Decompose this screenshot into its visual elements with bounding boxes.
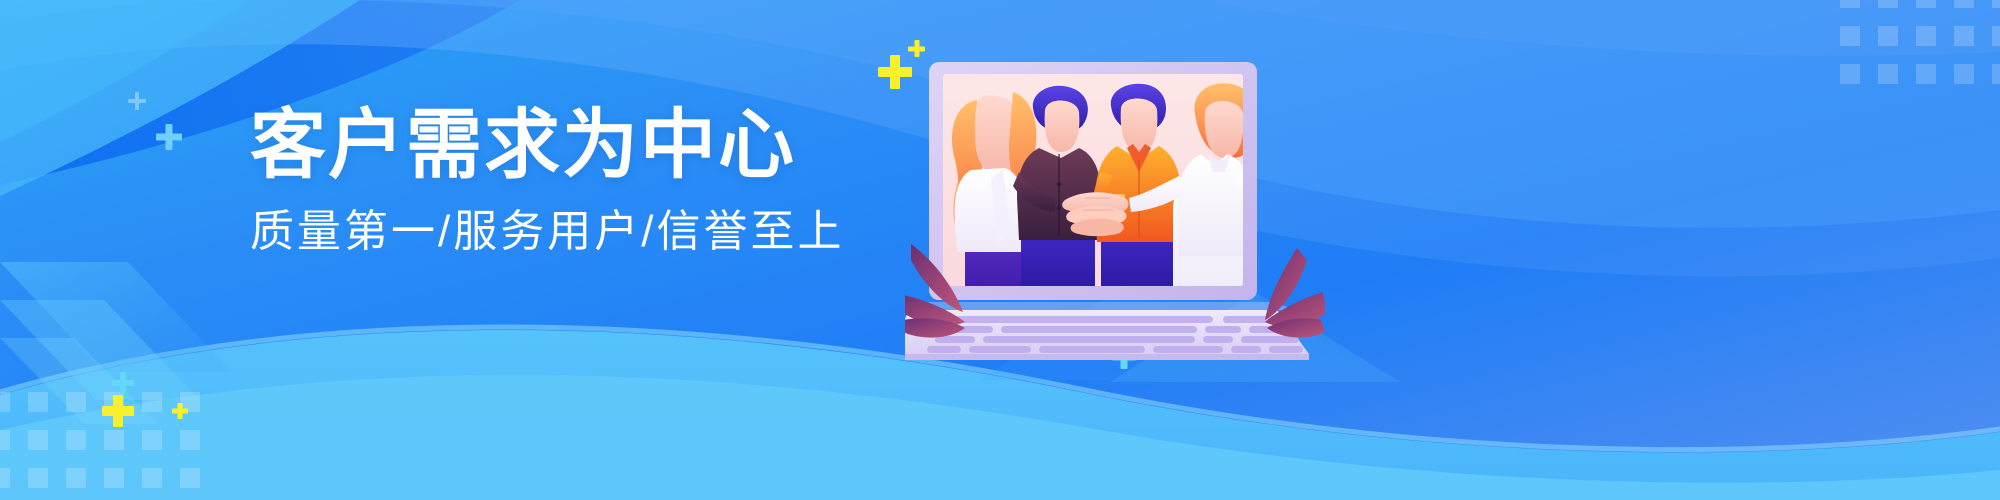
laptop-base-edge: [905, 354, 1309, 360]
stacked-hands: [1062, 192, 1128, 236]
laptop-team-illustration: [905, 48, 1325, 368]
plus-small-top-left-icon: [128, 92, 146, 110]
plus-yellow-bottom-icon: [102, 395, 134, 427]
laptop-hinge: [905, 302, 1297, 310]
leaf-decor-right: [1265, 248, 1325, 338]
plus-cyan-bottom-icon: [112, 372, 134, 394]
headline-block: 客户需求为中心 质量第一/服务用户/信誉至上: [250, 108, 870, 254]
page-subtitle: 质量第一/服务用户/信誉至上: [250, 210, 870, 254]
team-people-group: [952, 83, 1325, 301]
plus-medium-left-icon: [156, 124, 182, 150]
grid-dots-top-right: [1840, 0, 2000, 90]
page-title: 客户需求为中心: [250, 108, 870, 184]
plus-yellow-bottom-small-icon: [172, 403, 188, 419]
marketing-banner: 客户需求为中心 质量第一/服务用户/信誉至上: [0, 0, 2000, 500]
